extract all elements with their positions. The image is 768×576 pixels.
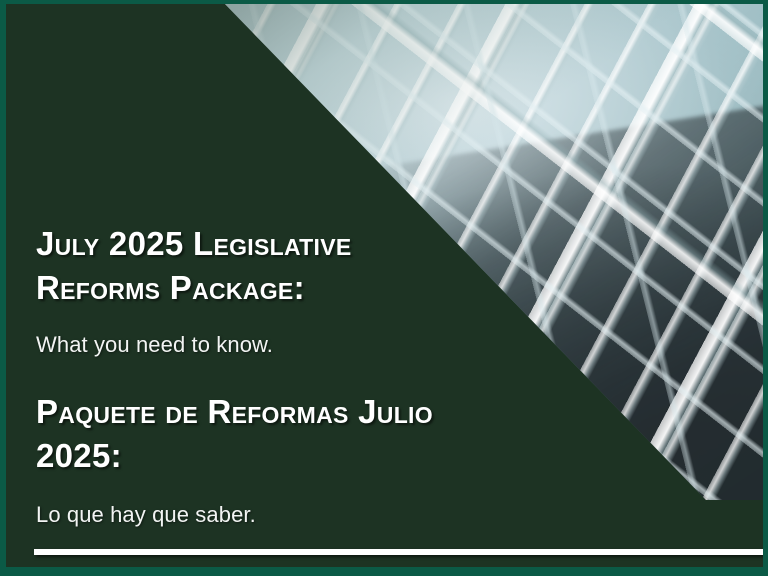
page-title-english: July 2025 Legislative Reforms Package: <box>36 222 466 310</box>
subtitle-spanish: Lo que hay que saber. <box>36 501 256 529</box>
subtitle-english: What you need to know. <box>36 331 273 359</box>
slide-panel: July 2025 Legislative Reforms Package: W… <box>6 4 763 567</box>
title-slide: July 2025 Legislative Reforms Package: W… <box>0 0 768 576</box>
text-content: July 2025 Legislative Reforms Package: W… <box>36 4 466 567</box>
page-title-spanish: Paquete de Reformas Julio 2025: <box>36 390 466 478</box>
bottom-divider-rule <box>34 549 763 555</box>
